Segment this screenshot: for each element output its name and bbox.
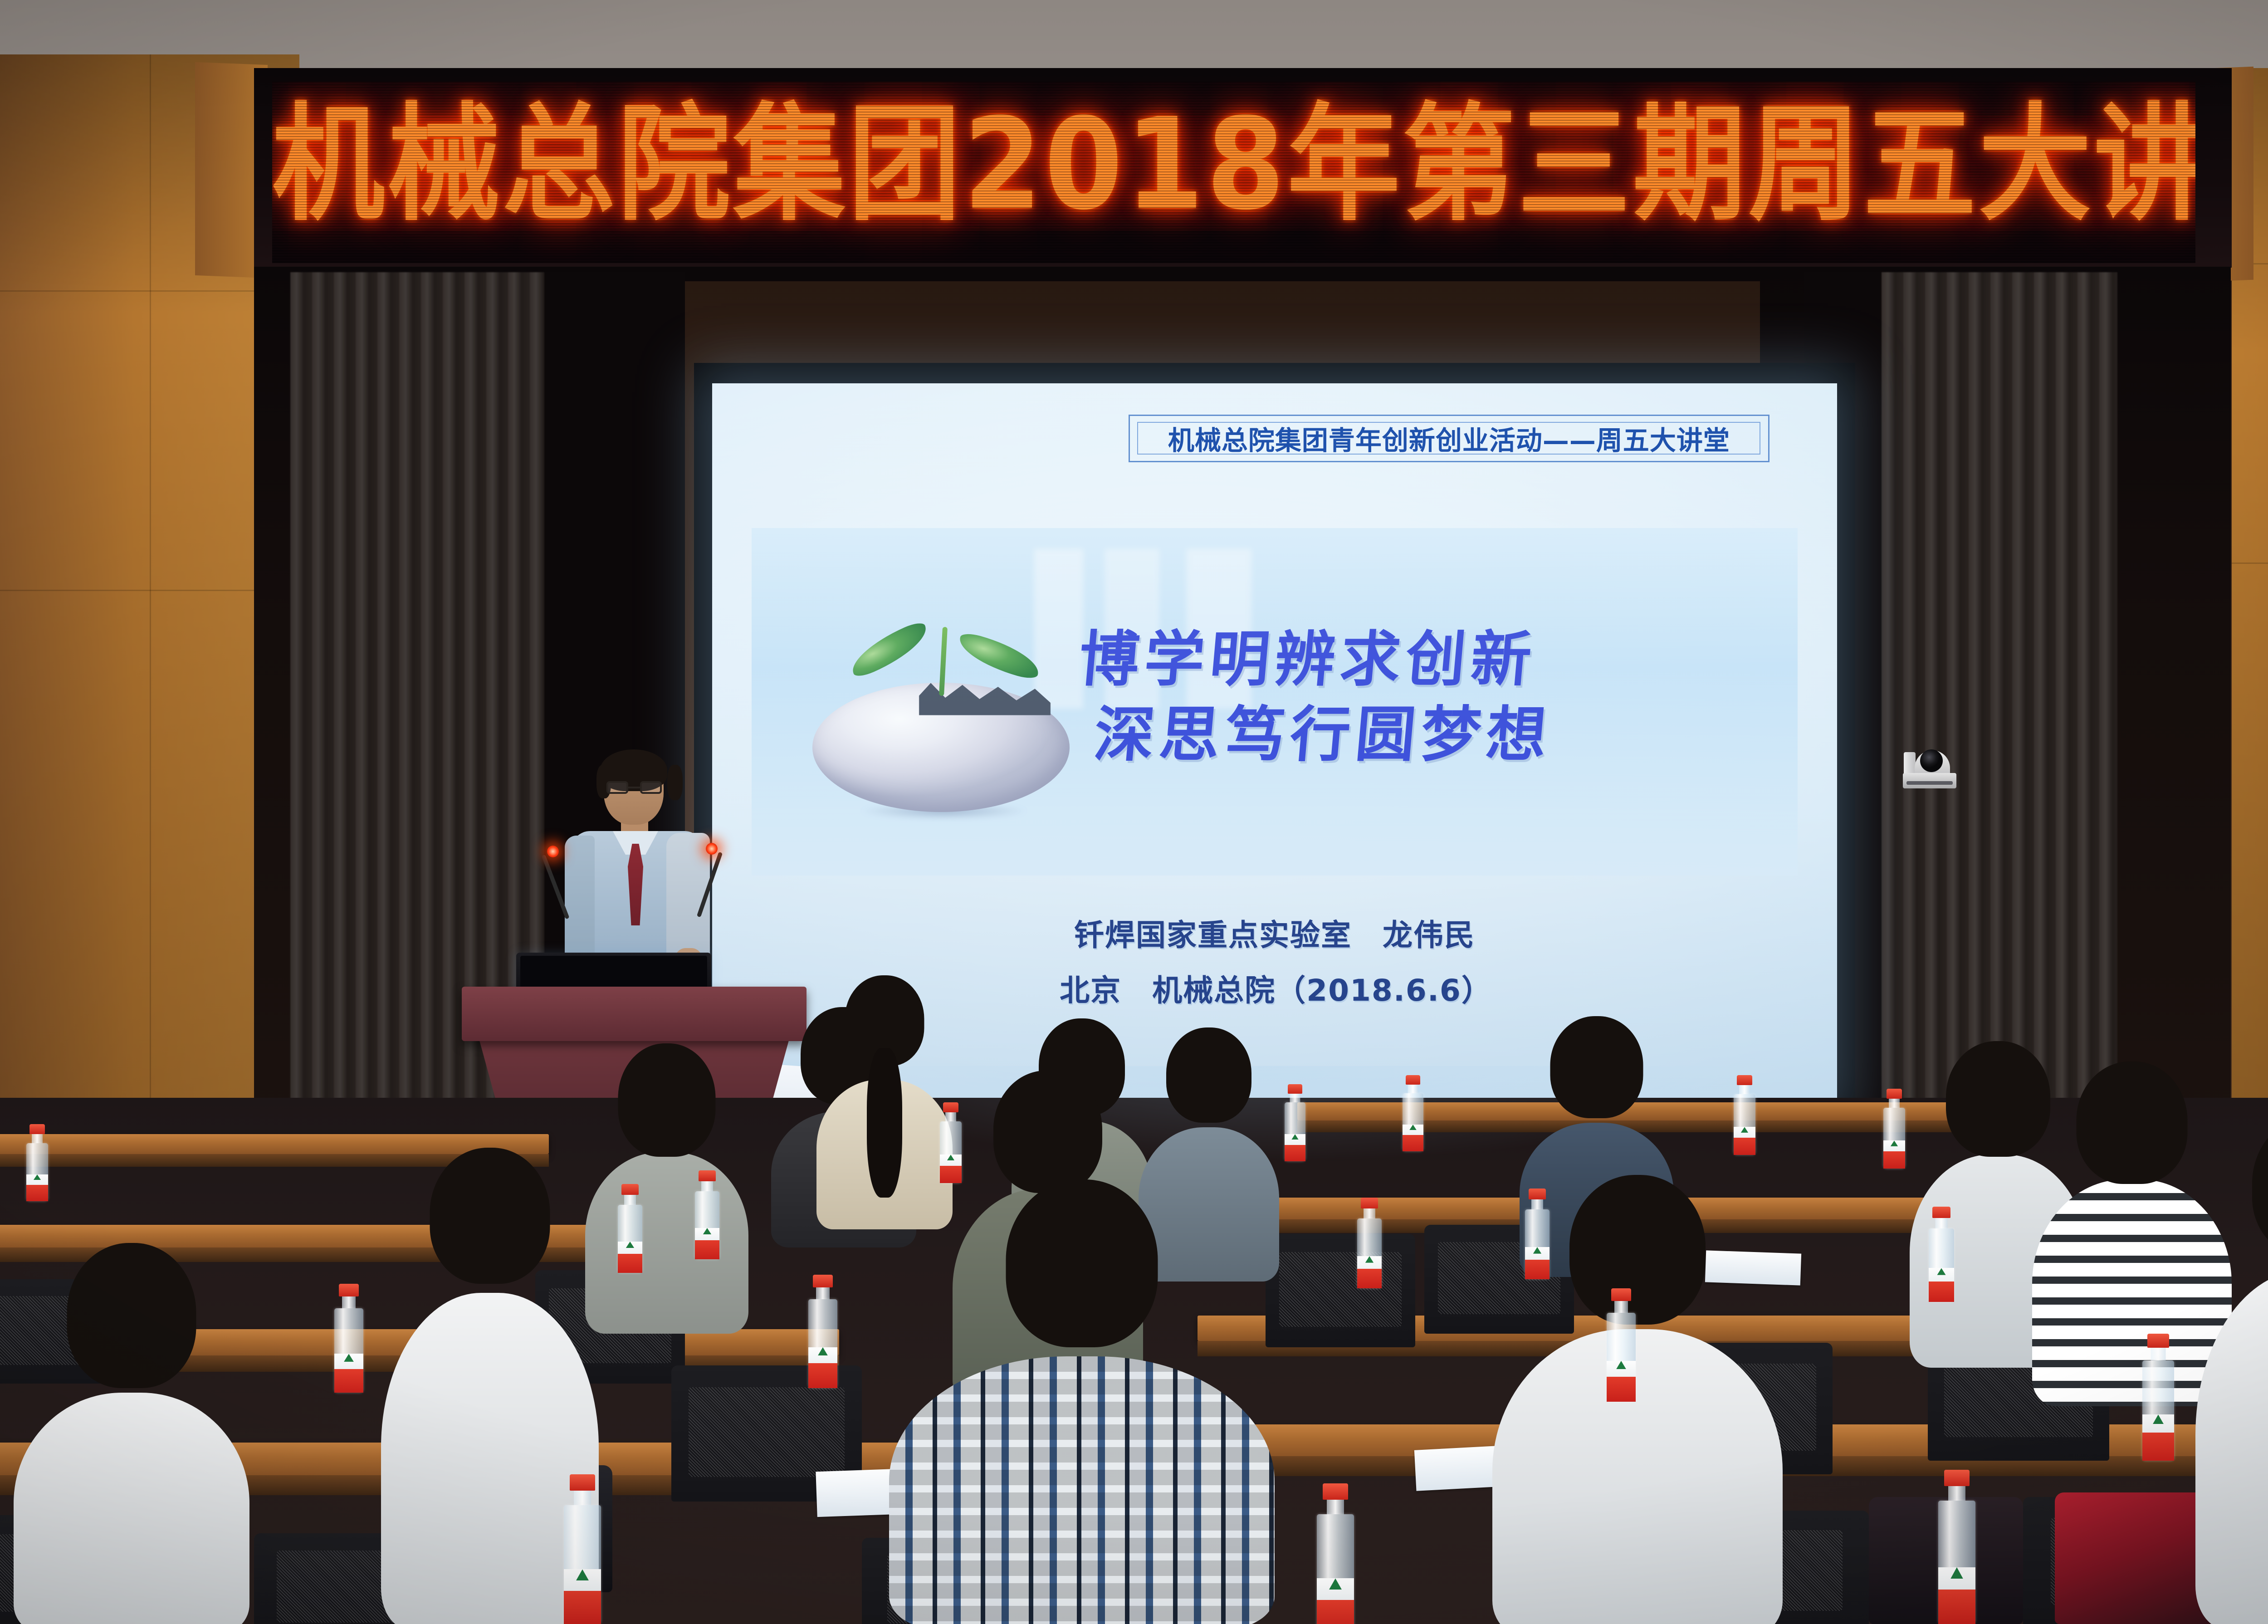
bottle-label-white	[618, 1242, 642, 1254]
water-bottle	[1606, 1288, 1637, 1402]
water-bottle	[1937, 1470, 1977, 1624]
person-head	[2077, 1061, 2188, 1184]
bottle-logo-icon	[1365, 1256, 1374, 1262]
bottle-label-white	[1734, 1127, 1755, 1138]
bottle-label-white	[940, 1154, 962, 1165]
bottle-cap	[943, 1102, 958, 1112]
bottle-logo-icon	[1291, 1134, 1299, 1140]
bottle-label-red	[618, 1254, 642, 1273]
person-torso	[14, 1393, 249, 1624]
bottle-logo-icon	[818, 1347, 828, 1355]
water-bottle	[1402, 1075, 1424, 1151]
bottle-label-white	[1357, 1256, 1382, 1269]
bottle-cap	[699, 1170, 716, 1181]
bottle-neck	[1936, 1218, 1948, 1228]
person-head	[67, 1243, 196, 1388]
bottle-logo-icon	[576, 1569, 589, 1580]
bottle-logo-icon	[1533, 1247, 1541, 1253]
bottle-body	[618, 1205, 642, 1273]
bottle-label-white	[26, 1174, 48, 1185]
person-head	[430, 1148, 550, 1284]
bottle-neck	[342, 1296, 356, 1308]
bottle-label-red	[940, 1166, 962, 1183]
bottle-cap	[1944, 1470, 1970, 1486]
bottle-neck	[1290, 1094, 1300, 1102]
speaker-hair-side-right	[667, 765, 683, 800]
bottle-body	[1285, 1102, 1305, 1161]
water-bottle	[1284, 1084, 1306, 1161]
person-torso	[585, 1152, 748, 1334]
bottle-label-white	[2142, 1414, 2174, 1433]
bottle-label-red	[1357, 1269, 1382, 1288]
water-bottle	[1315, 1483, 1355, 1624]
person-head	[618, 1043, 716, 1157]
slide-title-line1: 博学明辨求创新	[1076, 622, 1773, 697]
bottle-body	[1938, 1501, 1975, 1624]
bottle-logo-icon	[1616, 1361, 1626, 1369]
bottle-logo-icon	[1891, 1140, 1898, 1146]
bottle-label-white	[1285, 1134, 1305, 1145]
audience-person	[585, 1039, 748, 1329]
bottle-body	[1357, 1218, 1382, 1288]
water-bottle	[1524, 1189, 1550, 1279]
bottle-neck	[1364, 1208, 1375, 1218]
bottle-body	[1734, 1094, 1755, 1155]
bottle-neck	[1408, 1085, 1418, 1093]
sprout-leaf-right	[954, 631, 1044, 681]
audience-person	[889, 1179, 1275, 1624]
person-torso-plaid	[889, 1356, 1275, 1624]
bottle-label-red	[1938, 1590, 1975, 1624]
bottle-label-red	[1525, 1260, 1549, 1279]
water-bottle	[25, 1124, 49, 1201]
chair[interactable]	[1266, 1234, 1415, 1347]
bottle-label-white	[564, 1569, 601, 1590]
bottle-label-white	[1929, 1268, 1954, 1281]
bottle-body	[808, 1299, 837, 1388]
person-torso	[2195, 1270, 2268, 1624]
bottle-logo-icon	[947, 1154, 954, 1160]
bottle-logo-icon	[1409, 1125, 1417, 1130]
bottle-body	[26, 1143, 48, 1201]
bottle-neck	[1531, 1199, 1543, 1209]
bottle-cap	[1932, 1207, 1950, 1218]
bottle-label-red	[808, 1363, 837, 1388]
bottle-body	[1883, 1108, 1905, 1169]
bottle-neck	[1889, 1099, 1900, 1108]
bottle-label-red	[1734, 1138, 1755, 1155]
water-bottle	[1928, 1207, 1955, 1302]
bottle-cap	[1406, 1075, 1420, 1085]
bottle-cap	[29, 1124, 45, 1134]
bottle-body	[334, 1308, 363, 1393]
person-torso	[1492, 1329, 1783, 1624]
bottle-neck	[816, 1287, 830, 1299]
led-banner: 机械总院集团2018年第三期周五大讲堂	[272, 82, 2195, 263]
bottle-body	[1403, 1093, 1423, 1151]
bottle-body	[940, 1121, 962, 1183]
water-bottle	[1882, 1089, 1906, 1169]
bottle-label-white	[1607, 1361, 1636, 1377]
bottle-neck	[945, 1112, 956, 1121]
ptz-camera-icon	[1903, 745, 1956, 788]
bottle-cap	[621, 1184, 639, 1195]
bottle-label-red	[26, 1185, 48, 1201]
slide-graphic-band: 博学明辨求创新 深思笃行圆梦想	[752, 528, 1798, 876]
slide-subtitle-line1: 钎焊国家重点实验室 龙伟民	[712, 908, 1837, 963]
led-banner-text: 机械总院集团2018年第三期周五大讲堂	[272, 82, 2195, 249]
water-bottle	[2141, 1334, 2175, 1461]
bottle-label-white	[334, 1354, 363, 1369]
podium-top	[462, 987, 807, 1041]
bottle-logo-icon	[1741, 1127, 1748, 1133]
bottle-cap	[339, 1284, 359, 1296]
wall-seam	[150, 54, 151, 1234]
bottle-label-red	[1403, 1135, 1423, 1151]
bottle-label-red	[564, 1591, 601, 1624]
camera-lens	[1920, 749, 1943, 772]
slide-header-box: 机械总院集团青年创新创业活动——周五大讲堂	[1129, 415, 1770, 462]
water-bottle	[617, 1184, 643, 1273]
bottle-neck	[2151, 1348, 2166, 1360]
bottle-body	[695, 1191, 719, 1259]
glasses-lens-left	[606, 781, 628, 794]
bottle-body	[564, 1505, 601, 1624]
bottle-body	[1607, 1313, 1636, 1402]
bottle-cap	[1737, 1075, 1752, 1085]
water-bottle	[1733, 1075, 1756, 1155]
person-head	[1166, 1027, 1251, 1123]
bottle-logo-icon	[34, 1174, 41, 1180]
slide-title-line2: 深思笃行圆梦想	[1069, 697, 1766, 773]
water-bottle	[1356, 1198, 1383, 1288]
person-head	[1006, 1179, 1158, 1347]
bottle-body	[1317, 1514, 1354, 1624]
bottle-label-red	[1883, 1151, 1905, 1169]
bottle-cap	[570, 1474, 595, 1491]
bottle-label-white	[1938, 1567, 1975, 1590]
bottle-label-red	[1285, 1145, 1305, 1161]
bottle-cap	[1611, 1288, 1631, 1301]
bottle-logo-icon	[703, 1228, 711, 1234]
bottle-body	[2142, 1360, 2174, 1461]
camera-base-trim	[1906, 781, 1953, 785]
bottle-label-red	[695, 1240, 719, 1259]
bottle-label-white	[1525, 1247, 1549, 1260]
person-head	[1569, 1175, 1706, 1325]
slide-header-text: 机械总院集团青年创新创业活动——周五大讲堂	[1168, 419, 1730, 457]
bottle-label-red	[1607, 1377, 1636, 1402]
bottle-label-red	[1929, 1282, 1954, 1302]
glasses-bridge	[628, 787, 640, 788]
slide-title: 博学明辨求创新 深思笃行圆梦想	[1069, 622, 1773, 773]
bottle-label-red	[2142, 1433, 2174, 1461]
person-ponytail	[867, 1048, 902, 1198]
bottle-label-white	[1403, 1125, 1423, 1135]
microphone-led-left-icon	[547, 846, 559, 857]
speaker-jacket-left	[565, 836, 595, 972]
microphone-led-right-icon	[706, 843, 718, 855]
bottle-cap	[1323, 1483, 1348, 1500]
bottle-label-white	[808, 1347, 837, 1363]
bottle-cap	[1361, 1198, 1378, 1208]
camera-base	[1903, 773, 1956, 788]
sprout-leaf-left	[845, 620, 934, 680]
chair-mesh-back	[689, 1387, 845, 1477]
lecture-hall-photo: 机械总院集团2018年第三期周五大讲堂 机械总院集团青年创新创业活动——周五大讲…	[0, 0, 2268, 1624]
egg-sprout-graphic	[793, 618, 1107, 834]
glasses-icon	[606, 781, 662, 795]
bottle-label-red	[334, 1369, 363, 1393]
bottle-cap	[813, 1275, 833, 1287]
water-bottle	[562, 1474, 602, 1624]
bottle-label-white	[695, 1228, 719, 1240]
bottle-neck	[32, 1134, 43, 1143]
bottle-logo-icon	[2153, 1414, 2164, 1424]
bottle-neck	[1739, 1085, 1750, 1094]
water-bottle	[333, 1284, 364, 1393]
bottle-neck	[624, 1195, 636, 1205]
bottle-cap	[2147, 1334, 2169, 1348]
person-head	[1550, 1016, 1643, 1118]
audience-person	[14, 1243, 249, 1624]
person-head	[993, 1071, 1102, 1193]
water-bottle	[807, 1275, 838, 1388]
bottle-cap	[1288, 1084, 1302, 1094]
chair-mesh-back	[1279, 1252, 1402, 1327]
bottle-neck	[574, 1491, 591, 1505]
bottle-neck	[1327, 1500, 1344, 1514]
curtain-right	[1882, 272, 2117, 1157]
glasses-lens-right	[640, 781, 662, 794]
bottle-neck	[1948, 1486, 1965, 1501]
bottle-logo-icon	[1329, 1578, 1342, 1590]
water-bottle	[694, 1170, 720, 1259]
bottle-label-red	[1317, 1600, 1354, 1624]
bottle-cap	[1887, 1089, 1902, 1099]
person-head	[2252, 1116, 2268, 1257]
water-bottle	[939, 1102, 963, 1183]
bottle-body	[1525, 1209, 1549, 1279]
bottle-body	[1929, 1228, 1954, 1302]
bottle-logo-icon	[626, 1242, 634, 1248]
bottle-logo-icon	[1950, 1567, 1963, 1579]
bottle-logo-icon	[1937, 1268, 1945, 1275]
bottle-cap	[1529, 1189, 1546, 1199]
bottle-neck	[701, 1181, 713, 1191]
bottle-label-white	[1317, 1578, 1354, 1600]
bottle-neck	[1614, 1301, 1628, 1313]
audience-person	[2195, 1116, 2268, 1624]
bottle-label-white	[1883, 1140, 1905, 1151]
bottle-logo-icon	[344, 1354, 354, 1361]
